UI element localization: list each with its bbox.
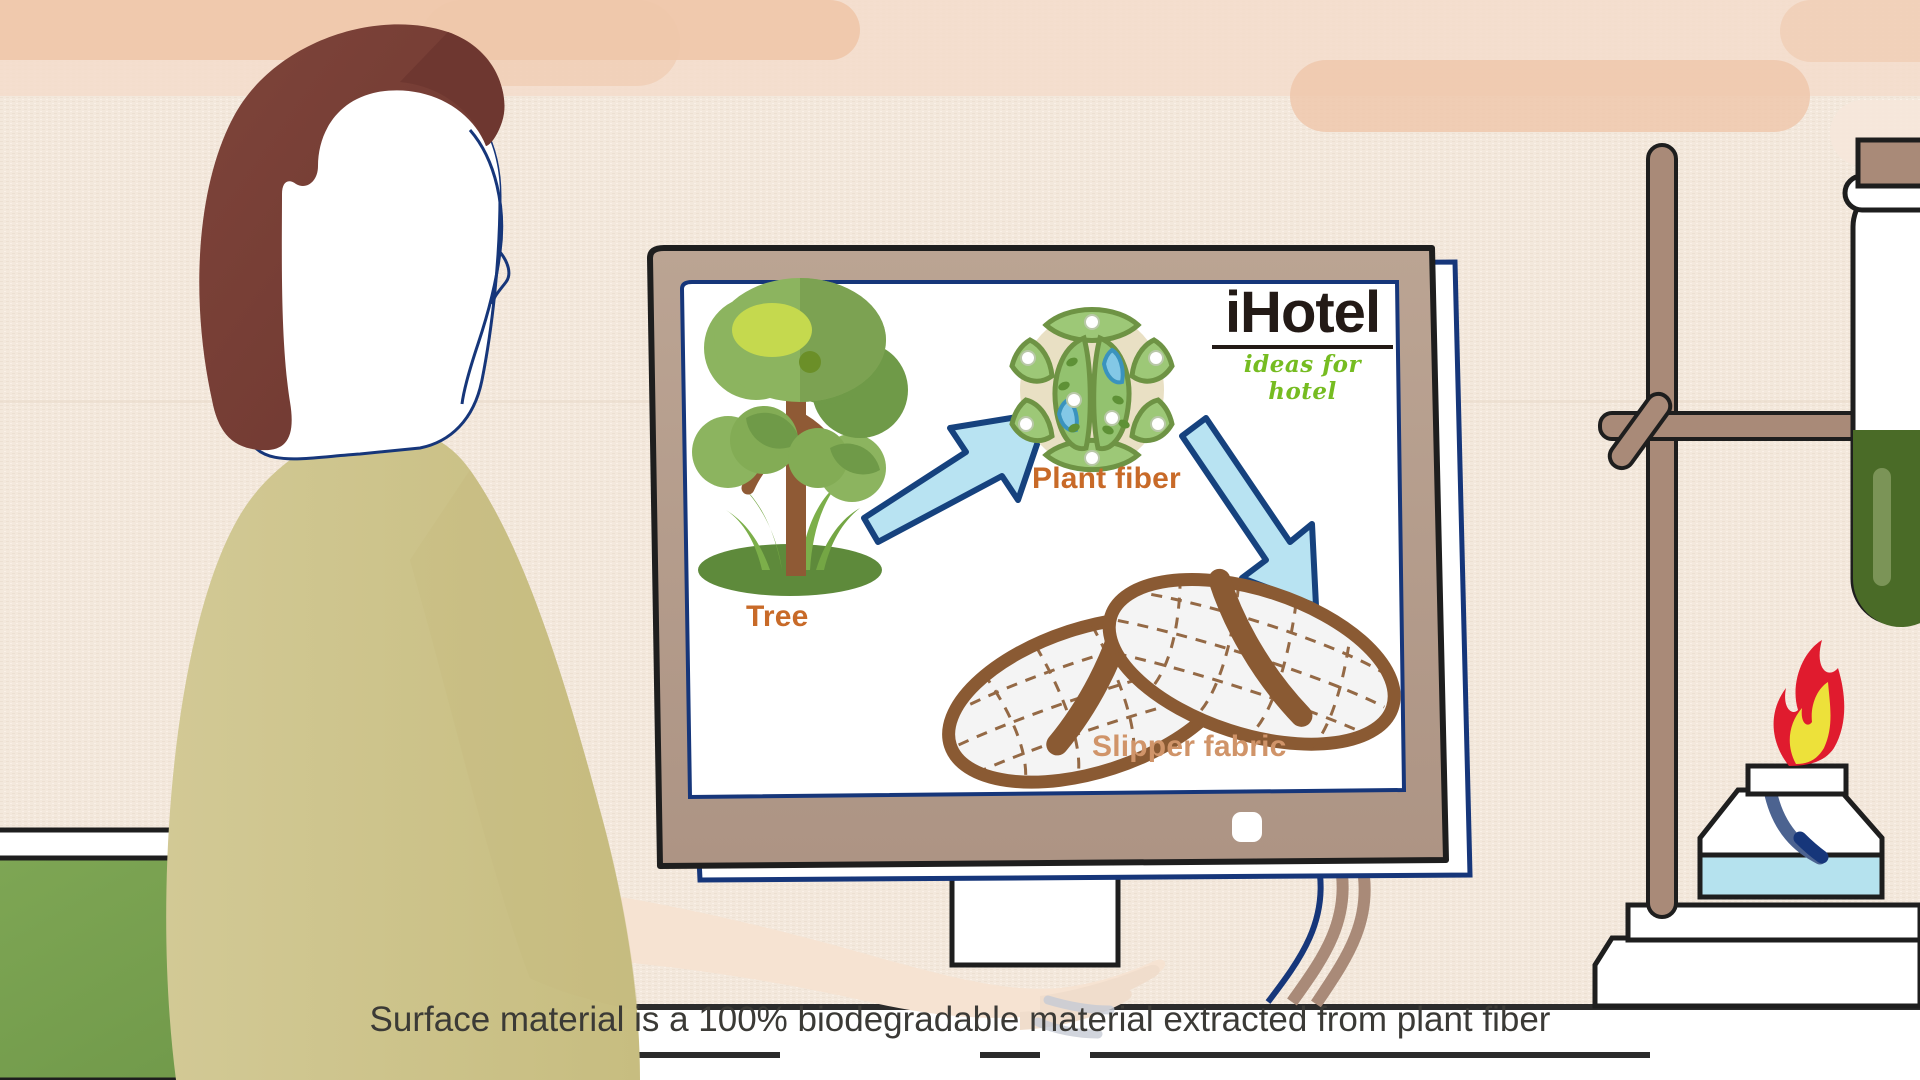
monitor-neck	[952, 870, 1118, 965]
monitor-power-button[interactable]	[1232, 812, 1262, 842]
logo-tagline: ideas for hotel	[1210, 351, 1395, 405]
screen-label-plant-fiber: Plant fiber	[1032, 462, 1181, 496]
screen-label-tree: Tree	[746, 600, 809, 634]
screen-label-slipper-fabric: Slipper fabric	[1092, 730, 1287, 764]
ihotel-logo: iHotel ideas for hotel	[1210, 285, 1395, 405]
logo-wordmark: iHotel	[1210, 285, 1395, 340]
scene-caption: Surface material is a 100% biodegradable…	[0, 1000, 1920, 1040]
stand-base-icon	[1595, 905, 1920, 1006]
scene-artwork	[0, 0, 1920, 1080]
logo-divider	[1212, 345, 1393, 349]
stand-rod-icon	[1648, 145, 1676, 917]
illustration-scene: Tree Plant fiber Slipper fabric iHotel i…	[0, 0, 1920, 1080]
test-tube-icon	[1845, 140, 1920, 627]
